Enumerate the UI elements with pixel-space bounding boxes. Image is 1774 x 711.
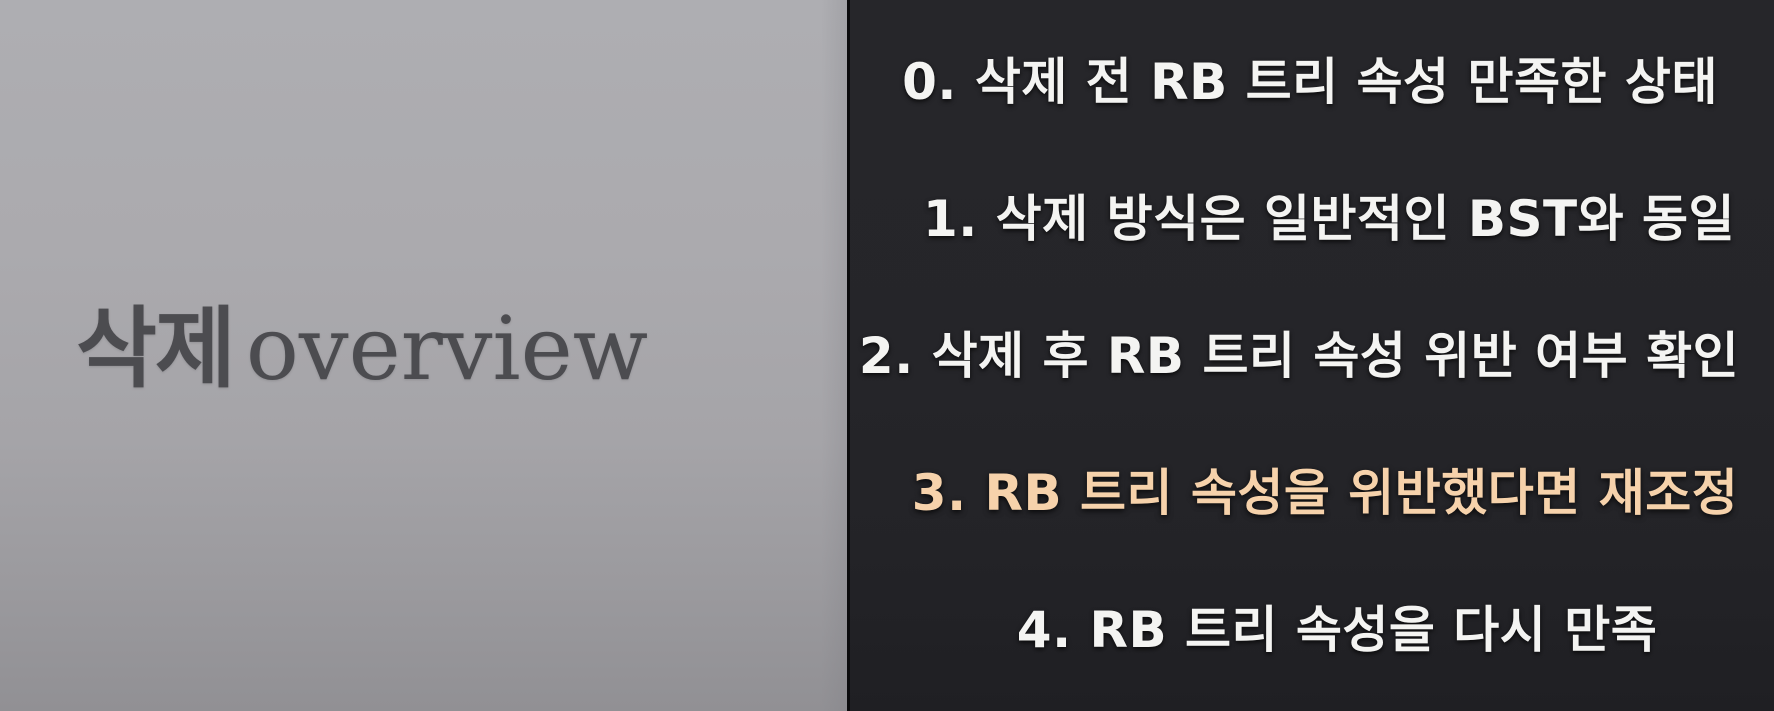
step-item-0: 0. 삭제 전 RB 트리 속성 만족한 상태 [850,13,1774,150]
left-title-panel: 삭제overview [0,0,847,711]
steps-panel: 0. 삭제 전 RB 트리 속성 만족한 상태 1. 삭제 방식은 일반적인 B… [850,0,1774,711]
page-title-korean: 삭제 [76,297,246,400]
page-title: 삭제overview [0,303,648,395]
step-item-1: 1. 삭제 방식은 일반적인 BST와 동일 [850,150,1774,287]
slide-frame: 삭제overview 0. 삭제 전 RB 트리 속성 만족한 상태 1. 삭제… [0,0,1774,711]
step-item-2: 2. 삭제 후 RB 트리 속성 위반 여부 확인 [850,287,1774,424]
page-title-english: overview [246,297,648,400]
step-item-3: 3. RB 트리 속성을 위반했다면 재조정 [850,424,1774,561]
step-item-4: 4. RB 트리 속성을 다시 만족 [850,561,1774,698]
step-list: 0. 삭제 전 RB 트리 속성 만족한 상태 1. 삭제 방식은 일반적인 B… [850,13,1774,698]
